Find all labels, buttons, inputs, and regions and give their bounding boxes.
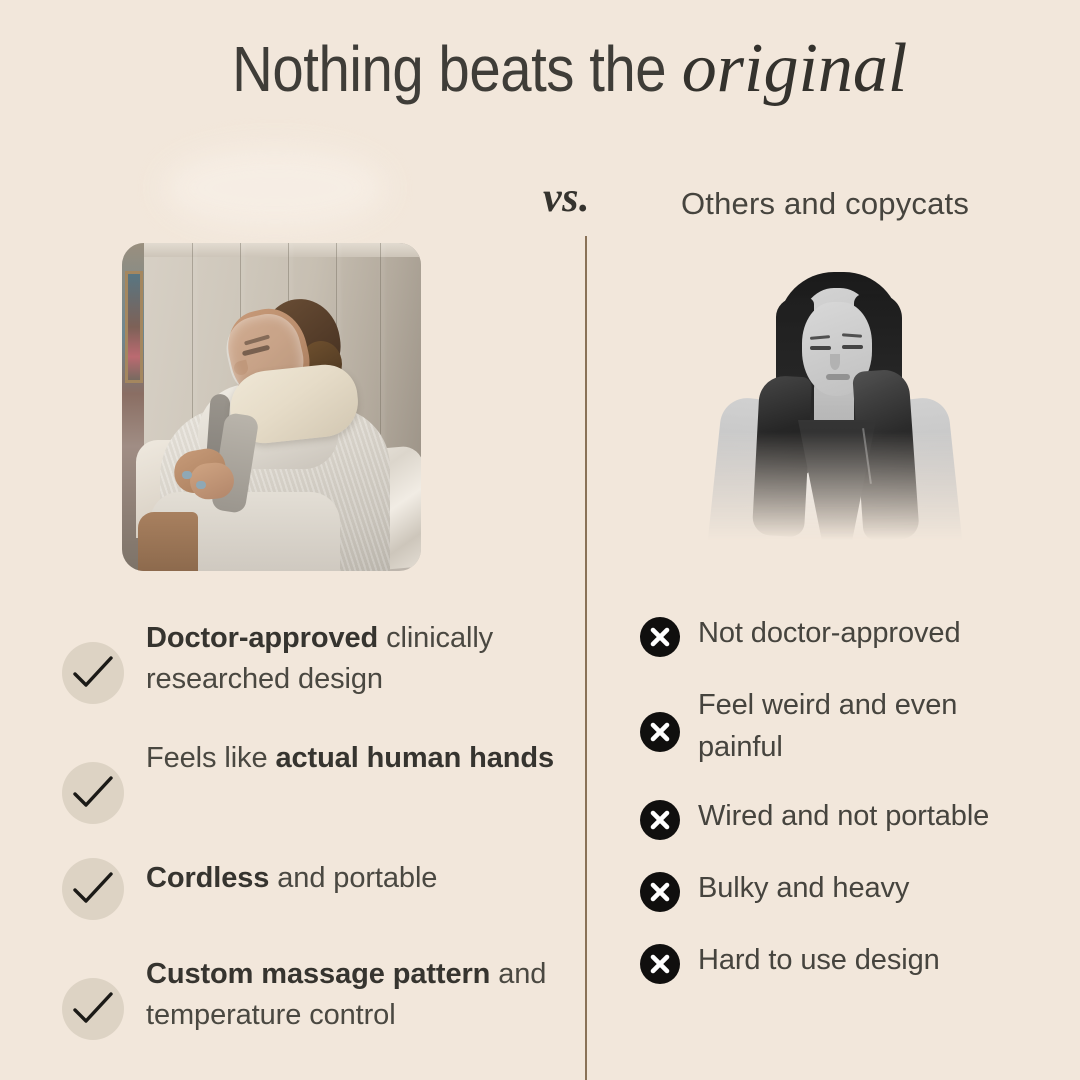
list-item: Wired and not portable [640,795,1060,840]
cons-list: Not doctor-approved Feel weird and even … [640,612,1060,984]
black-massager-left-strap [752,375,812,538]
con-text: Hard to use design [698,939,940,981]
check-icon [62,978,124,1040]
x-icon [640,872,680,912]
pro-text: Feels like actual human hands [146,734,554,779]
pro-rest: and portable [269,862,437,894]
pro-bold: actual human hands [275,742,554,774]
closed-eye-right [842,345,863,349]
original-product-photo [122,243,421,571]
x-icon [640,712,680,752]
fingernail [196,481,206,489]
list-item: Hard to use design [640,939,1060,984]
pro-text: Cordless and portable [146,854,437,899]
vs-label: vs. [543,174,590,222]
others-heading: Others and copycats [640,186,1010,222]
wall-picture-frame [125,271,143,383]
check-icon [62,858,124,920]
list-item: Cordless and portable [62,854,562,920]
title-plain: Nothing beats the [232,37,666,101]
con-text: Bulky and heavy [698,867,909,909]
list-item: Custom massage pattern and temperature c… [62,950,562,1040]
con-text: Not doctor-approved [698,612,960,654]
soft-glow-blob [165,148,385,228]
list-item: Feel weird and even painful [640,684,1060,768]
list-item: Feels like actual human hands [62,734,562,824]
lips [826,374,850,380]
title-italic: original [682,34,908,104]
check-icon [62,762,124,824]
leg [138,512,198,571]
pro-lead: Feels like [146,742,275,774]
pro-text: Doctor-approved clinically researched de… [146,614,562,700]
pro-bold: Doctor-approved [146,622,378,654]
copycat-product-photo [690,258,980,558]
pro-text: Custom massage pattern and temperature c… [146,950,562,1036]
con-text: Wired and not portable [698,795,989,837]
column-divider [585,236,587,1080]
x-icon [640,800,680,840]
closed-eye-left [810,346,831,350]
con-text: Feel weird and even painful [698,684,1028,768]
page-title: Nothing beats theoriginal [0,34,1080,104]
pro-bold: Custom massage pattern [146,958,490,990]
pro-bold: Cordless [146,862,269,894]
list-item: Bulky and heavy [640,867,1060,912]
x-icon [640,944,680,984]
x-icon [640,617,680,657]
check-icon [62,642,124,704]
list-item: Doctor-approved clinically researched de… [62,614,562,704]
list-item: Not doctor-approved [640,612,1060,657]
nose [830,354,840,370]
fingernail [182,471,192,479]
pros-list: Doctor-approved clinically researched de… [62,614,562,1040]
